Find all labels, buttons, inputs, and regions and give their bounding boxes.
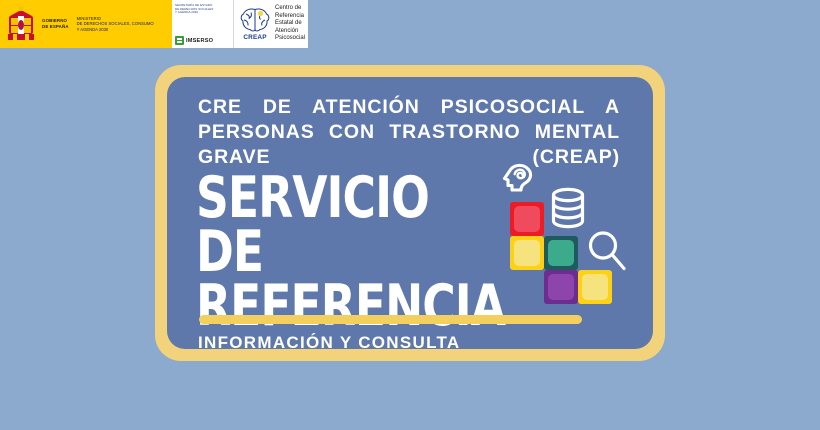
page-title: SERVICIO DE REFERENCIA <box>196 171 436 333</box>
ministerio-wordmark: MINISTERIO DE DERECHOS SOCIALES, CONSUMO… <box>77 16 154 33</box>
gobierno-wordmark: GOBIERNO DE ESPAÑA <box>42 18 69 29</box>
icon-cluster <box>494 162 629 297</box>
creap-logo: CREAP Centro de Referencia Estatal de At… <box>234 0 308 48</box>
coat-of-arms-icon <box>6 7 36 41</box>
magnifier-icon <box>587 230 629 274</box>
head-brain-icon <box>499 162 541 204</box>
imserso-logo: SECRETARÍA DE ESTADO DE DERECHOS SOCIALE… <box>172 0 234 48</box>
secretaria-de-estado-text: SECRETARÍA DE ESTADO DE DERECHOS SOCIALE… <box>175 4 230 15</box>
tile-teal <box>544 236 578 270</box>
tile-yellow-left <box>510 236 544 270</box>
tile-red <box>510 202 544 236</box>
institutional-header: GOBIERNO DE ESPAÑA MINISTERIO DE DERECHO… <box>0 0 308 48</box>
imserso-mark-icon <box>175 36 184 45</box>
tile-purple <box>544 270 578 304</box>
card-subtitle: INFORMACIÓN Y CONSULTA <box>198 333 461 349</box>
poster-card-border: CRE DE ATENCIÓN PSICOSOCIAL A PERSONAS C… <box>155 65 665 361</box>
divider-rule <box>199 315 582 324</box>
brain-logo-icon <box>239 7 271 33</box>
tile-yellow-right <box>578 270 612 304</box>
poster-card: CRE DE ATENCIÓN PSICOSOCIAL A PERSONAS C… <box>167 77 653 349</box>
creap-fullname: Centro de Referencia Estatal de Atención… <box>275 5 305 42</box>
gobierno-de-espana-logo: GOBIERNO DE ESPAÑA MINISTERIO DE DERECHO… <box>0 0 172 48</box>
database-icon <box>548 187 588 231</box>
